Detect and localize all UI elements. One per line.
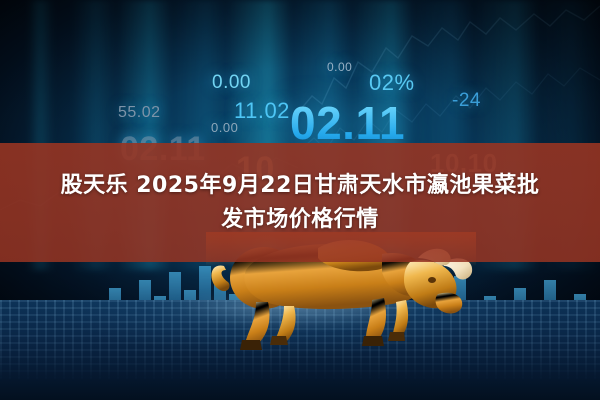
bull-tail [211,266,229,292]
ticker-number-minus-24: -24 [452,90,481,112]
bull-eye [428,277,436,283]
title-banner: 股天乐 2025年9月22日甘肃天水市瀛池果菜批 发市场价格行情 [0,143,600,262]
ticker-number-02-pct: 02% [369,70,415,96]
bull-muzzle [436,293,463,314]
title-line-2: 发市场价格行情 [221,206,379,234]
title-line-1: 股天乐 2025年9月22日甘肃天水市瀛池果菜批 [61,172,540,200]
bull-hoof-front-far [388,332,405,341]
bull-hoof-hind-far [270,336,288,345]
bull-hoof-hind-near [240,340,262,350]
stock-market-banner-image: 0.00 55.02 11.02 0.00 0.00 02% -24 02.11… [0,0,600,400]
ticker-number-0-00-a: 0.00 [212,72,251,94]
ticker-number-55-02: 55.02 [118,104,161,122]
ticker-number-0-00-c: 0.00 [327,60,352,74]
bull-hoof-front-near [362,336,384,346]
ticker-number-0-00-b: 0.00 [211,120,238,135]
ticker-number-02-11-large: 02.11 [290,96,405,150]
ticker-number-11-02: 11.02 [234,98,290,124]
